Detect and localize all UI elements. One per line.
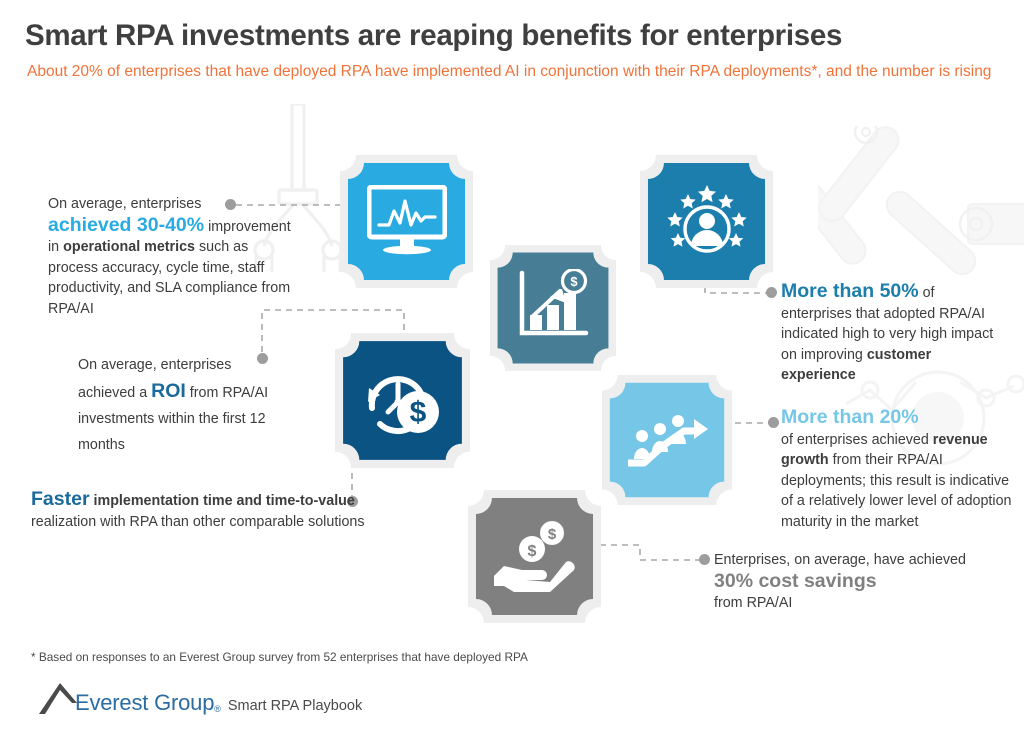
callout-faster: Faster implementation time and time-to-v…: [31, 489, 376, 532]
icon-badge-customer-stars: [640, 155, 773, 288]
callout-savings-highlight: 30% cost savings: [714, 570, 877, 592]
mountain-peak-icon: [38, 680, 78, 716]
icon-badge-monitor-waveform: [340, 155, 473, 288]
callout-customer-experience: More than 50% of enterprises that adopte…: [781, 281, 1006, 386]
page-subtitle: About 20% of enterprises that have deplo…: [27, 60, 992, 84]
hand-coins-icon: $ $: [492, 518, 576, 594]
logo-subtitle: Smart RPA Playbook: [228, 699, 362, 714]
monitor-waveform-icon: [367, 185, 447, 257]
callout-faster-highlight: Faster: [31, 488, 90, 510]
chart-growth-dollar-icon: $: [516, 269, 590, 345]
callout-roi: On average, enterprises achieved a ROI f…: [78, 352, 293, 458]
svg-text:$: $: [570, 274, 578, 289]
callout-customer-highlight: More than 50%: [781, 280, 919, 302]
callout-savings-line1: Enterprises, on average, have achieved: [714, 552, 966, 568]
callout-operational-line1: On average, enterprises: [48, 196, 201, 212]
callout-roi-line1: On average, enterprises: [78, 357, 231, 373]
callout-roi-highlight: ROI: [151, 380, 186, 402]
icon-badge-people-growth: [602, 375, 732, 505]
robotic-arm-watermark: [818, 126, 1024, 286]
callout-revenue-rest1: of enterprises achieved: [781, 432, 933, 448]
callout-faster-bold-rest: implementation time and time-to-value: [90, 493, 355, 509]
footnote: * Based on responses to an Everest Group…: [31, 650, 528, 664]
logo-wordmark: Everest Group: [75, 692, 214, 714]
callout-revenue-highlight: More than 20%: [781, 406, 919, 428]
connector-dot-savings: [699, 554, 710, 565]
customer-stars-icon: [666, 183, 748, 259]
everest-group-logo: Everest Group ® Smart RPA Playbook: [38, 678, 362, 714]
connector-dot-revenue: [768, 417, 779, 428]
callout-roi-pre: achieved a: [78, 385, 151, 401]
logo-registered-mark: ®: [214, 704, 221, 714]
svg-text:$: $: [528, 543, 537, 560]
callout-operational-highlight: achieved 30-40%: [48, 214, 204, 236]
callout-revenue-growth: More than 20% of enterprises achieved re…: [781, 407, 1013, 532]
people-growth-arrow-icon: [626, 411, 708, 471]
icon-badge-chart-growth: $: [490, 245, 616, 371]
svg-text:$: $: [548, 526, 557, 543]
callout-savings-line3: from RPA/AI: [714, 595, 792, 611]
clock-dollar-icon: $: [362, 362, 444, 440]
icon-badge-clock-dollar: $: [335, 333, 470, 468]
connector-dot-customer: [766, 287, 777, 298]
callout-faster-line2: realization with RPA than other comparab…: [31, 514, 365, 530]
page-title: Smart RPA investments are reaping benefi…: [25, 19, 842, 53]
callout-operational-metrics: On average, enterprises achieved 30-40% …: [48, 194, 298, 319]
callout-cost-savings: Enterprises, on average, have achieved 3…: [714, 550, 994, 614]
infographic-canvas: Smart RPA investments are reaping benefi…: [0, 0, 1024, 745]
callout-operational-bold1: operational metrics: [63, 239, 195, 255]
icon-badge-hand-coins: $ $: [468, 490, 601, 623]
svg-text:$: $: [410, 396, 427, 429]
